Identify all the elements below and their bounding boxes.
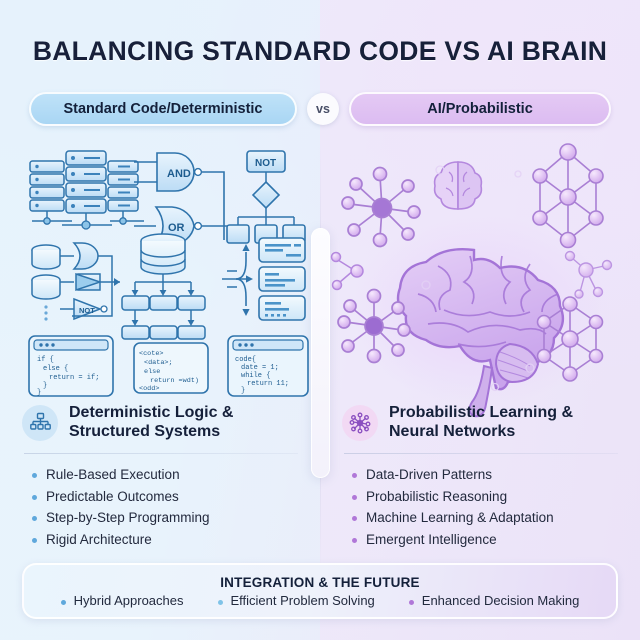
footer-item: Hybrid Approaches	[61, 593, 184, 608]
branching-cards-icon	[222, 238, 305, 320]
database-icon	[32, 245, 60, 299]
code-window-2: <cote> <data>; else return =wdt) <odd>	[133, 342, 209, 394]
page-title: BALANCING STANDARD CODE VS AI BRAIN	[0, 36, 640, 67]
svg-text:else {: else {	[43, 365, 68, 373]
small-brain-icon	[435, 162, 482, 209]
list-item: Data-Driven Patterns	[352, 464, 620, 486]
svg-text:date = 1;: date = 1;	[241, 364, 279, 372]
integration-footer: INTEGRATION & THE FUTURE Hybrid Approach…	[22, 563, 618, 619]
list-item: Step-by-Step Programming	[32, 507, 300, 529]
code-window-1: if { else { return = if; } }	[28, 335, 114, 397]
logic-gate-and-icon: AND	[134, 153, 224, 212]
vs-badge: vs	[307, 93, 339, 125]
infographic-poster: BALANCING STANDARD CODE VS AI BRAIN Stan…	[0, 0, 640, 640]
list-item: Probabilistic Reasoning	[352, 486, 620, 508]
center-divider	[311, 228, 330, 478]
svg-text:}: }	[241, 387, 245, 395]
not-flowchart-icon: NOT	[227, 151, 305, 243]
panel-title: Deterministic Logic & Structured Systems	[69, 404, 300, 442]
bullet-list: Rule-Based Execution Predictable Outcome…	[22, 464, 300, 551]
org-chart-icon	[22, 405, 58, 441]
list-item: Rigid Architecture	[32, 529, 300, 551]
svg-text:code{: code{	[235, 356, 256, 364]
svg-text:return = if;: return = if;	[49, 374, 99, 382]
buffer-gate-icon: NOT	[60, 243, 120, 319]
svg-text:AND: AND	[167, 168, 191, 180]
svg-text:return 11;: return 11;	[247, 380, 289, 388]
svg-text:<odd>: <odd>	[139, 385, 159, 393]
neuron-cluster-icon	[342, 168, 420, 247]
list-item: Predictable Outcomes	[32, 486, 300, 508]
footer-title: INTEGRATION & THE FUTURE	[220, 575, 420, 590]
neuron-node-icon	[342, 405, 378, 441]
footer-item: Enhanced Decision Making	[409, 593, 580, 608]
svg-text:<cote>: <cote>	[139, 350, 163, 358]
footer-item-list: Hybrid Approaches Efficient Problem Solv…	[61, 593, 580, 608]
svg-text:<data>;: <data>;	[144, 359, 173, 367]
svg-text:if {: if {	[37, 356, 54, 364]
comparison-pill-row: Standard Code/Deterministic vs AI/Probab…	[0, 91, 640, 127]
list-item: Rule-Based Execution	[32, 464, 300, 486]
svg-text:while {: while {	[241, 372, 270, 380]
pill-ai-probabilistic[interactable]: AI/Probabilistic	[349, 92, 611, 126]
pill-standard-code[interactable]: Standard Code/Deterministic	[29, 92, 297, 126]
deterministic-illustration: AND OR NOT	[22, 143, 307, 343]
svg-text:}: }	[43, 382, 47, 390]
svg-text:else: else	[144, 368, 160, 376]
svg-text:NOT: NOT	[79, 306, 95, 315]
panel-header: Probabilistic Learning & Neural Networks	[342, 404, 620, 442]
server-rack-icon	[30, 151, 138, 213]
panel-header: Deterministic Logic & Structured Systems	[22, 404, 300, 442]
list-item: Machine Learning & Adaptation	[352, 507, 620, 529]
panel-title: Probabilistic Learning & Neural Networks	[389, 404, 620, 442]
ai-brain-illustration	[330, 140, 630, 405]
panel-divider	[24, 453, 298, 454]
database-tree-icon	[122, 234, 205, 339]
list-item: Emergent Intelligence	[352, 529, 620, 551]
svg-text:return =wdt): return =wdt)	[150, 377, 199, 385]
footer-item: Efficient Problem Solving	[218, 593, 375, 608]
svg-text:NOT: NOT	[255, 158, 276, 169]
bullet-list: Data-Driven Patterns Probabilistic Reaso…	[342, 464, 620, 551]
panel-divider	[344, 453, 618, 454]
panel-probabilistic: Probabilistic Learning & Neural Networks…	[342, 404, 620, 551]
svg-text:}: }	[37, 389, 41, 397]
panel-deterministic: Deterministic Logic & Structured Systems…	[22, 404, 300, 551]
code-window-3: code{ date = 1; while { return 11; }	[227, 335, 309, 397]
svg-text:OR: OR	[168, 222, 185, 234]
